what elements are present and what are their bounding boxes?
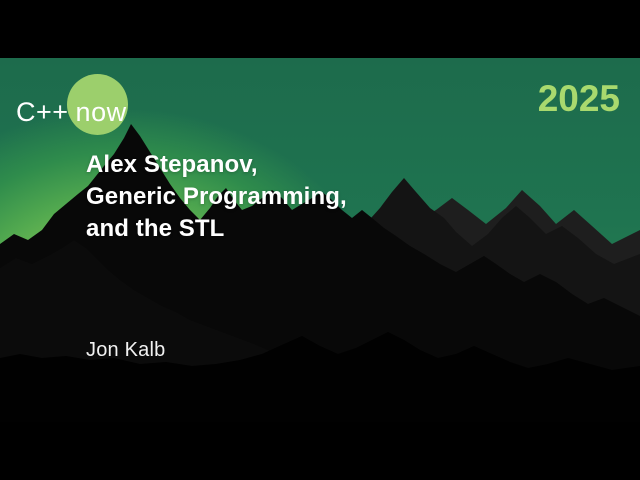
talk-title: Alex Stepanov, Generic Programming, and … xyxy=(86,149,347,245)
speaker-name: Jon Kalb xyxy=(86,340,165,360)
thumbnail-frame: C++ now 2025 Alex Stepanov, Generic Prog… xyxy=(0,58,640,422)
talk-title-line-2: Generic Programming, xyxy=(86,181,347,213)
talk-title-line-3: and the STL xyxy=(86,213,347,245)
cppnow-logo: C++ now xyxy=(16,74,127,148)
logo-cpp-text: C++ xyxy=(16,99,69,126)
logo-now-text: now xyxy=(76,99,127,126)
year-label: 2025 xyxy=(538,80,620,117)
letterbox-bar-top xyxy=(0,0,640,58)
talk-title-line-1: Alex Stepanov, xyxy=(86,149,347,181)
video-thumbnail: C++ now 2025 Alex Stepanov, Generic Prog… xyxy=(0,0,640,480)
letterbox-bar-bottom xyxy=(0,422,640,480)
